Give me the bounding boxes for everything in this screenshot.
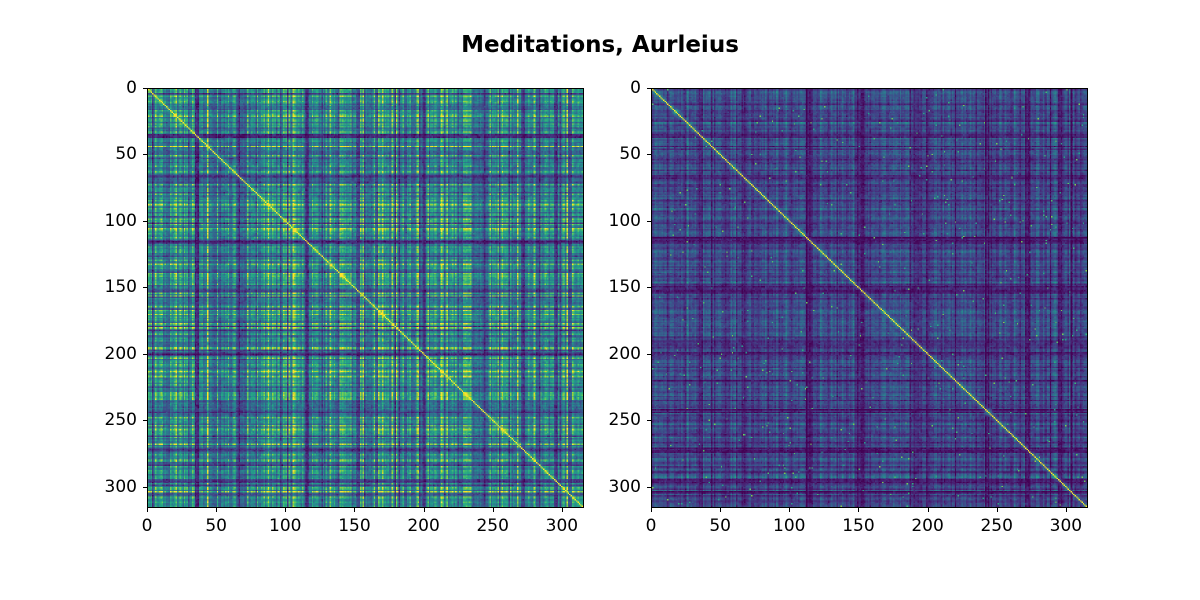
right-ytick-mark: [647, 487, 651, 488]
right-ytick-mark: [647, 287, 651, 288]
right-heatmap-canvas: [652, 89, 1087, 507]
right-ytick-label: 100: [571, 213, 641, 230]
right-ytick-mark: [647, 221, 651, 222]
right-ytick-label: 250: [571, 412, 641, 429]
right-xtick-label: 100: [749, 518, 829, 535]
right-xtick-mark: [1066, 508, 1067, 512]
right-xtick-mark: [928, 508, 929, 512]
right-ytick-label: 50: [571, 146, 641, 163]
right-xtick-label: 150: [818, 518, 898, 535]
right-xtick-label: 250: [957, 518, 1037, 535]
right-ytick-mark: [647, 88, 651, 89]
right-xtick-label: 50: [680, 518, 760, 535]
right-ytick-label: 150: [571, 279, 641, 296]
matplotlib-figure: Meditations, Aurleius 050100150200250300…: [0, 0, 1200, 600]
right-ytick-mark: [647, 420, 651, 421]
right-xtick-mark: [997, 508, 998, 512]
right-ytick-label: 300: [571, 479, 641, 496]
right-ytick-label: 200: [571, 346, 641, 363]
right-ytick-mark: [647, 354, 651, 355]
right-ytick-mark: [647, 154, 651, 155]
right-xtick-label: 0: [611, 518, 691, 535]
right-xtick-mark: [789, 508, 790, 512]
right-xtick-mark: [651, 508, 652, 512]
right-axes: 050100150200250300050100150200250300: [0, 0, 1200, 600]
right-xtick-mark: [858, 508, 859, 512]
right-xtick-label: 300: [1026, 518, 1106, 535]
right-xtick-label: 200: [888, 518, 968, 535]
right-heatmap-plot[interactable]: [651, 88, 1088, 508]
right-ytick-label: 0: [571, 80, 641, 97]
right-xtick-mark: [720, 508, 721, 512]
